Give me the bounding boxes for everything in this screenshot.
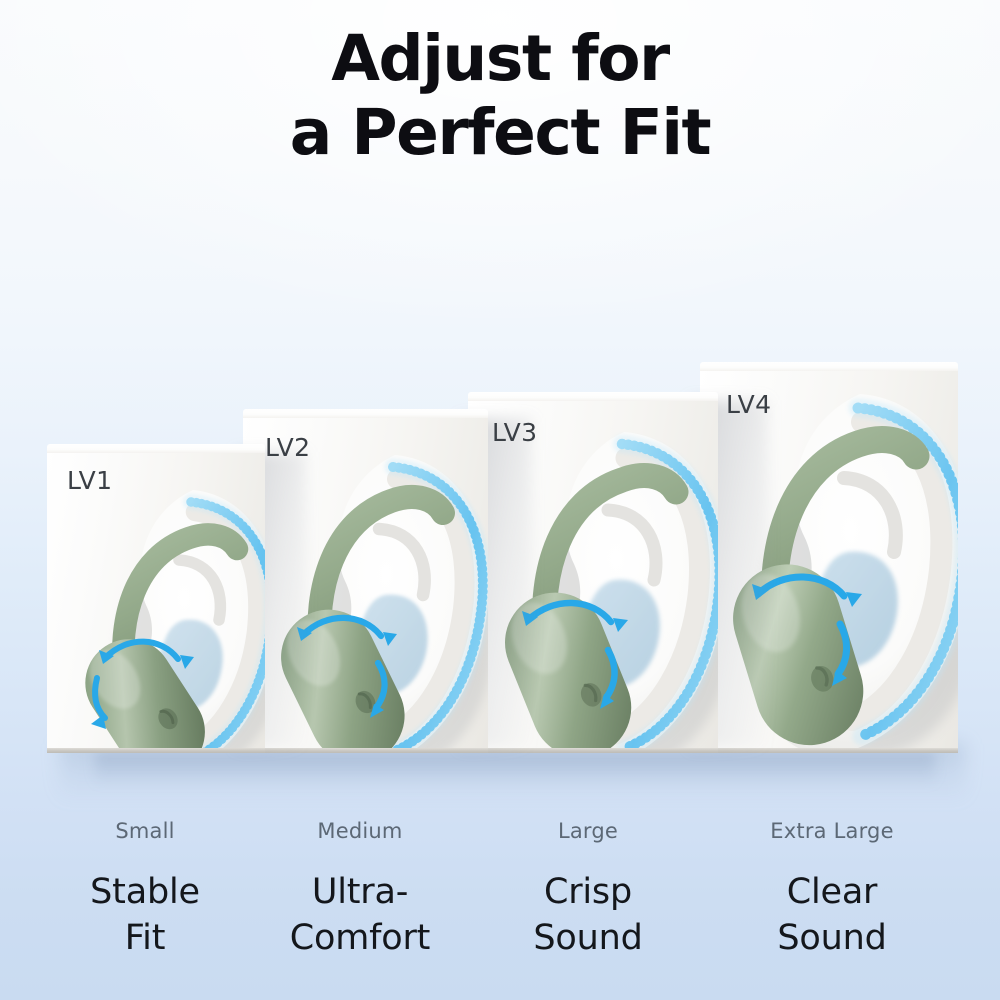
earbud-icon [720,551,877,748]
fit-arrow-icon [528,603,611,622]
ear-model-icon [700,368,958,748]
fit-arrow-icon [303,618,381,636]
stack-contact-shadow [95,752,935,786]
benefit-text-small: Stable Fit [45,869,245,961]
ear-model-icon [243,415,488,748]
earbud-icon [490,577,646,748]
fit-arrow-icon [758,577,844,596]
panel-top-bevel-lv3 [468,392,718,401]
benefit-text-large: Crisp Sound [488,869,688,961]
earbud-icon [265,594,421,748]
earbud-icon [68,622,221,748]
caption-column-large: Large Crisp Sound [488,818,688,961]
ear-model-icon [468,398,718,748]
level-panel-lv2[interactable]: LV2 [243,415,488,748]
size-label-small: Small [45,818,245,844]
product-feature-image: Adjust for a Perfect Fit [0,0,1000,1000]
caption-column-medium: Medium Ultra- Comfort [260,818,460,961]
panel-top-bevel-lv4 [700,362,958,371]
panel-top-bevel-lv2 [243,409,488,418]
panel-base-lv2 [243,748,488,753]
lv-label-lv1: LV1 [67,466,112,495]
fit-arrow-icon [105,642,178,659]
panel-base-lv3 [468,748,718,753]
panel-base-lv4 [700,748,958,753]
level-panel-lv3[interactable]: LV3 [468,398,718,748]
size-label-medium: Medium [260,818,460,844]
lv-label-lv3: LV3 [492,418,537,447]
panel-top-bevel-lv1 [47,444,265,453]
panel-base-lv1 [47,748,265,753]
level-panel-lv4[interactable]: LV4 [700,368,958,748]
caption-column-extra-large: Extra Large Clear Sound [732,818,932,961]
benefit-text-extra-large: Clear Sound [732,869,932,961]
lv-label-lv4: LV4 [726,390,771,419]
lv-label-lv2: LV2 [265,433,310,462]
size-label-large: Large [488,818,688,844]
benefit-text-medium: Ultra- Comfort [260,869,460,961]
size-label-extra-large: Extra Large [732,818,932,844]
level-panel-lv1[interactable]: LV1 [47,450,265,748]
caption-column-small: Small Stable Fit [45,818,245,961]
